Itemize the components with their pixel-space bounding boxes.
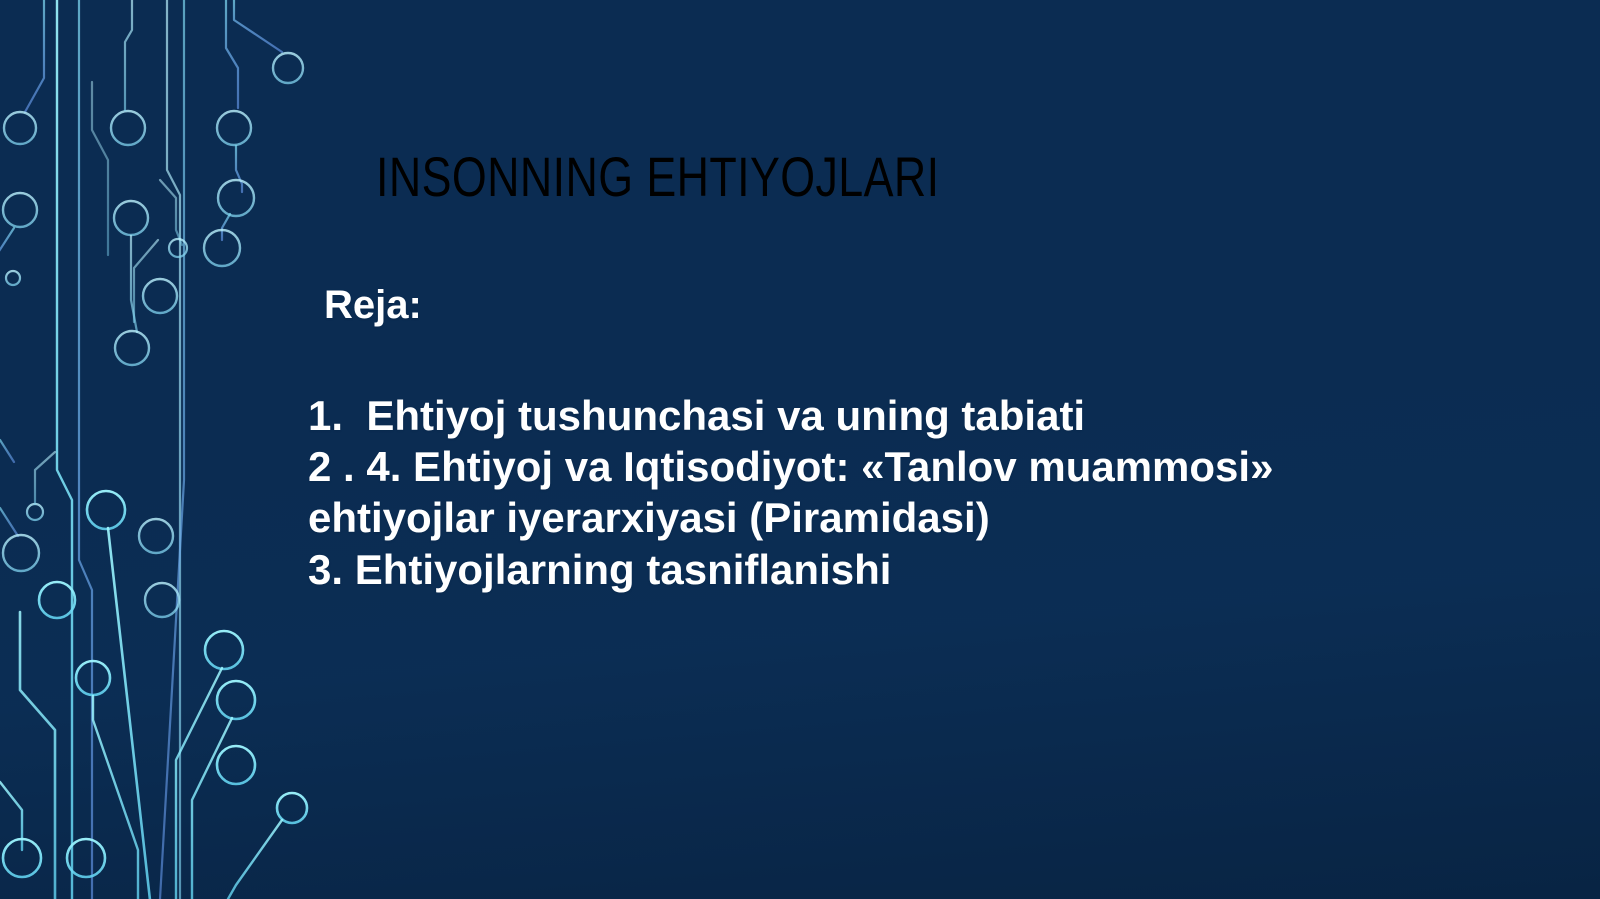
slide-body: Reja: 1. Ehtiyoj tushunchasi va uning ta… (308, 280, 1368, 595)
body-spacer (308, 344, 1368, 390)
page-title: INSONNING EHTIYOJLARI (376, 148, 940, 207)
plan-list: 1. Ehtiyoj tushunchasi va uning tabiati … (308, 390, 1368, 595)
presentation-slide: INSONNING EHTIYOJLARI Reja: 1. Ehtiyoj t… (0, 0, 1600, 899)
reja-heading: Reja: (324, 280, 1368, 330)
list-item: 2 . 4. Ehtiyoj va Iqtisodiyot: «Tanlov m… (308, 441, 1368, 543)
list-item: 3. Ehtiyojlarning tasniflanishi (308, 544, 1368, 595)
circuit-board-decoration-icon (0, 0, 320, 899)
list-item: 1. Ehtiyoj tushunchasi va uning tabiati (308, 390, 1368, 441)
